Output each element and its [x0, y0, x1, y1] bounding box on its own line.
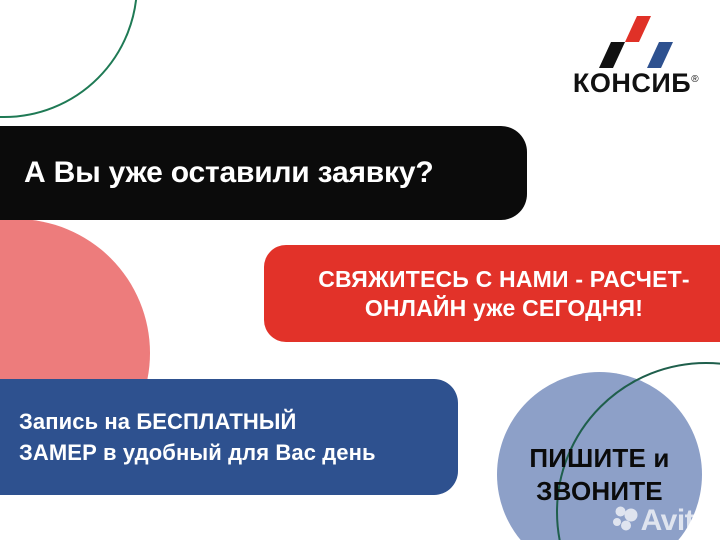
- brand-logo[interactable]: КОНСИБ®: [566, 16, 706, 108]
- headline-text: А Вы уже оставили заявку?: [24, 156, 433, 190]
- free-measurement-line2: ЗАМЕР в удобный для Вас день: [19, 440, 376, 465]
- contact-offer-line1: СВЯЖИТЕСЬ С НАМИ - РАСЧЕТ-: [318, 266, 690, 292]
- registered-trademark-icon: ®: [691, 74, 699, 85]
- call-to-action-text: ПИШИТЕ и ЗВОНИТЕ: [529, 442, 669, 508]
- free-measurement-banner: Запись на БЕСПЛАТНЫЙ ЗАМЕР в удобный для…: [0, 379, 458, 495]
- free-measurement-text: Запись на БЕСПЛАТНЫЙ ЗАМЕР в удобный для…: [19, 406, 376, 468]
- contact-offer-line2-today: СЕГОДНЯ!: [522, 295, 643, 321]
- headline-banner: А Вы уже оставили заявку?: [0, 126, 527, 220]
- contact-offer-line2-already: уже: [473, 295, 522, 321]
- contact-offer-line2-online: ОНЛАЙН: [365, 295, 473, 321]
- call-to-action-line1-write: ПИШИТЕ: [529, 443, 653, 473]
- advertisement-banner: КОНСИБ® А Вы уже оставили заявку? СВЯЖИТ…: [0, 0, 720, 540]
- logo-wordmark: КОНСИБ®: [566, 68, 706, 98]
- call-to-action-line1-and: и: [653, 443, 669, 473]
- free-measurement-line1: Запись на БЕСПЛАТНЫЙ: [19, 409, 296, 434]
- decorative-green-arc-top-left: [0, 0, 138, 118]
- contact-offer-banner: СВЯЖИТЕСЬ С НАМИ - РАСЧЕТ- ОНЛАЙН уже СЕ…: [264, 245, 720, 342]
- call-to-action-circle: ПИШИТЕ и ЗВОНИТЕ: [497, 372, 702, 540]
- logo-mark-icon: [566, 16, 706, 68]
- call-to-action-line2-call: ЗВОНИТЕ: [536, 476, 663, 506]
- logo-wordmark-text: КОНСИБ: [573, 68, 691, 98]
- contact-offer-text: СВЯЖИТЕСЬ С НАМИ - РАСЧЕТ- ОНЛАЙН уже СЕ…: [290, 265, 718, 323]
